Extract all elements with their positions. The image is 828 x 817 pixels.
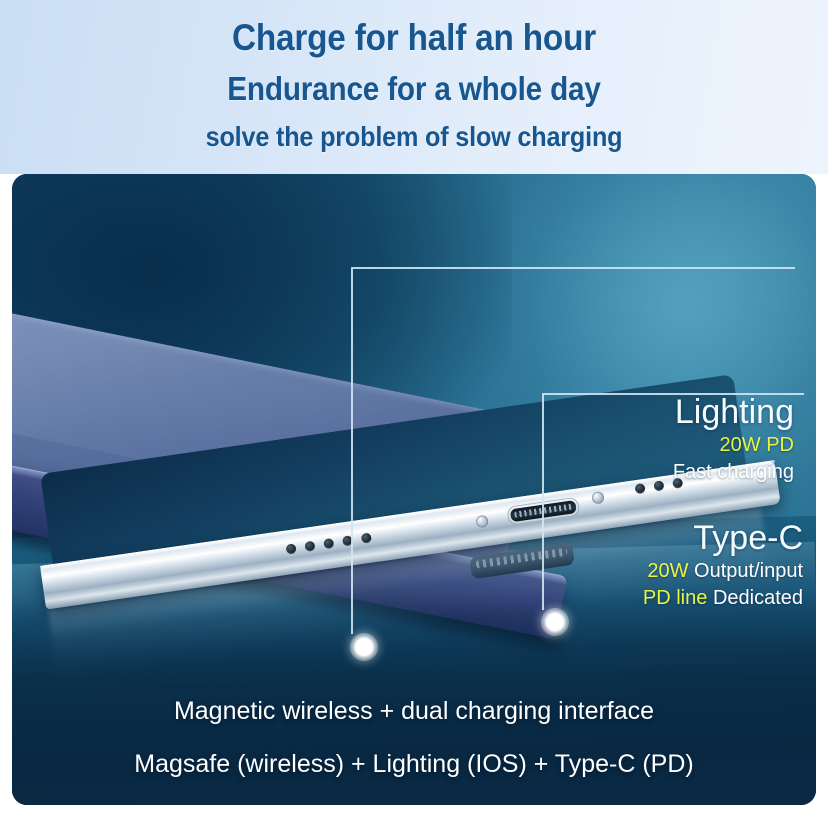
callout-heading-lighting: Lighting <box>673 392 794 432</box>
product-photo-panel: Lighting 20W PD Fast charging Type-C 20W… <box>12 174 816 805</box>
header-banner: Charge for half an hour Endurance for a … <box>0 0 828 174</box>
headline-tertiary: solve the problem of slow charging <box>41 120 786 153</box>
caption-primary: Magnetic wireless + dual charging interf… <box>12 696 816 726</box>
callout-label-typec: Type-C 20W Output/input PD line Dedicate… <box>643 518 803 612</box>
headline-secondary: Endurance for a whole day <box>41 70 786 108</box>
callout-spec-typec-io: 20W Output/input <box>643 558 803 585</box>
callout-spec-typec-cable: PD line Dedicated <box>643 585 803 612</box>
callout-label-lighting: Lighting 20W PD Fast charging <box>673 392 794 486</box>
spec-text-dedicated: Dedicated <box>713 587 803 609</box>
spec-highlight-20w-pd: 20W PD <box>720 434 794 456</box>
iphone-screw-left <box>475 515 489 529</box>
spec-text-io: Output/input <box>694 560 803 582</box>
spec-highlight-20w: 20W <box>647 560 688 582</box>
iphone-port-cavity <box>510 500 577 522</box>
callout-spec-lighting-power: 20W PD <box>673 432 794 459</box>
headline-primary: Charge for half an hour <box>41 17 786 59</box>
callout-heading-typec: Type-C <box>643 518 803 558</box>
callout-spec-lighting-mode: Fast charging <box>673 459 794 486</box>
spec-highlight-pd-line: PD line <box>643 587 707 609</box>
iphone-screw-right <box>591 491 605 505</box>
caption-secondary: Magsafe (wireless) + Lighting (IOS) + Ty… <box>12 749 816 779</box>
iphone-speaker-grille-left <box>285 533 372 555</box>
